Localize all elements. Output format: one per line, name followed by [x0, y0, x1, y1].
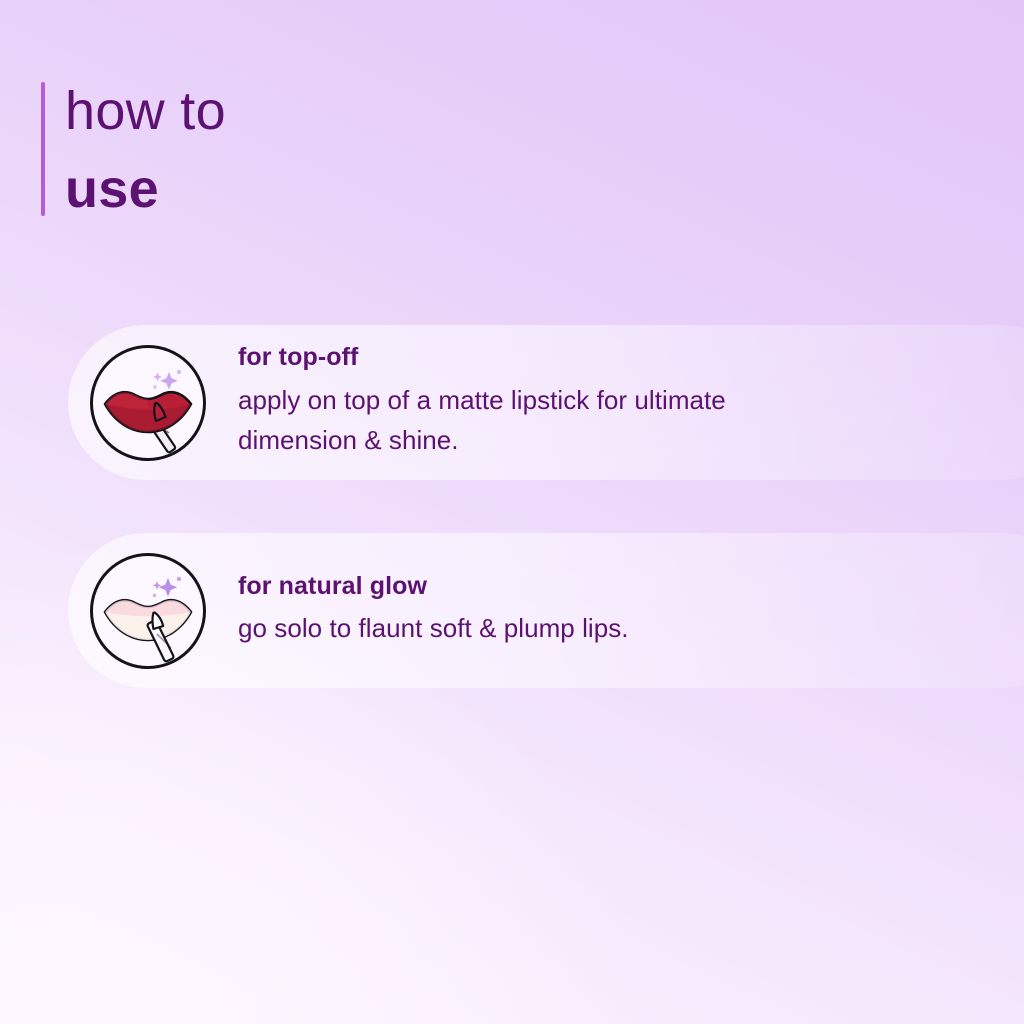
page-title-line-1: how to — [65, 82, 226, 138]
usage-step-card: for top-off apply on top of a matte lips… — [68, 325, 1024, 480]
usage-step-title: for top-off — [238, 344, 1024, 372]
how-to-use-panel: how to use — [0, 0, 1024, 1024]
usage-step-text: for natural glow go solo to flaunt soft … — [206, 573, 1024, 649]
usage-step-body: go solo to flaunt soft & plump lips. — [238, 608, 758, 648]
usage-step-text: for top-off apply on top of a matte lips… — [206, 344, 1024, 460]
usage-step-card: for natural glow go solo to flaunt soft … — [68, 533, 1024, 688]
usage-step-body: apply on top of a matte lipstick for ult… — [238, 380, 758, 461]
red-lips-with-applicator-icon — [90, 345, 206, 461]
title-text-group: how to use — [45, 82, 226, 216]
nude-lips-with-gloss-wand-icon — [90, 553, 206, 669]
page-title-line-2: use — [65, 138, 226, 216]
page-title: how to use — [41, 82, 226, 216]
usage-step-title: for natural glow — [238, 573, 1024, 601]
